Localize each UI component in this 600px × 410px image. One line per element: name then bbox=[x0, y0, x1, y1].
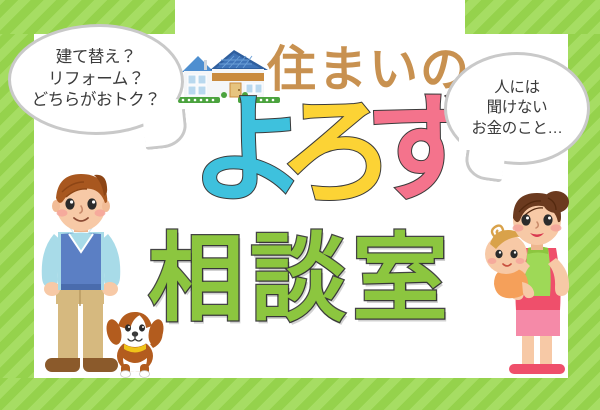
dog-illustration bbox=[104, 308, 166, 378]
green-stripe-top-right bbox=[465, 0, 600, 34]
woman-with-baby-illustration bbox=[478, 192, 582, 378]
title-yorozu: よ ろ ず bbox=[190, 100, 440, 225]
question-bubble-left-text: 建て替え？ リフォーム？ どちらがおトク？ bbox=[32, 47, 161, 112]
poster-canvas: 住まいの よ ろ ず 相談室 建て替え？ リフォーム？ どちらがおトク？ 人には… bbox=[0, 0, 600, 410]
question-bubble-left: 建て替え？ リフォーム？ どちらがおトク？ bbox=[8, 24, 184, 135]
question-bubble-right-text: 人には 聞けない お金のこと… bbox=[471, 78, 562, 139]
green-stripe-bottom-band bbox=[0, 378, 600, 410]
title-subtitle: 相談室 bbox=[148, 232, 454, 328]
question-bubble-right: 人には 聞けない お金のこと… bbox=[444, 52, 590, 165]
